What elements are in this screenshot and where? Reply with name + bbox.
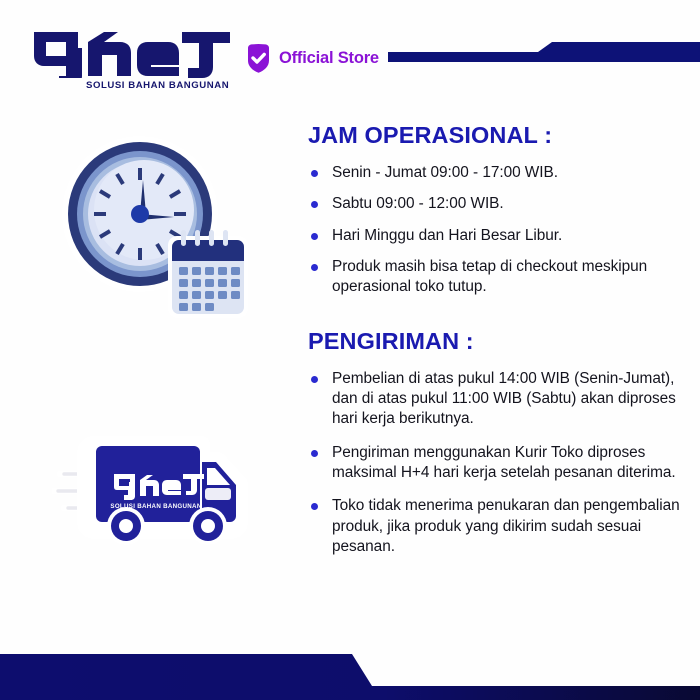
- bullet-dot-icon: [311, 503, 318, 510]
- list-item: Toko tidak menerima penukaran dan pengem…: [308, 496, 684, 557]
- brand-tagline: SOLUSI BAHAN BANGUNAN: [86, 80, 236, 91]
- list-item: Senin - Jumat 09:00 - 17:00 WIB.: [308, 163, 684, 183]
- bullet-dot-icon: [311, 170, 318, 177]
- list-item: Pengiriman menggunakan Kurir Toko dipros…: [308, 443, 684, 484]
- bullet-dot-icon: [311, 233, 318, 240]
- info-banner-page: SOLUSI BAHAN BANGUNAN Official Store: [0, 0, 700, 700]
- official-store-badge: Official Store: [246, 42, 379, 74]
- list-item-text: Pembelian di atas pukul 14:00 WIB (Senin…: [332, 370, 676, 428]
- page-header: SOLUSI BAHAN BANGUNAN Official Store: [0, 0, 700, 108]
- footer-accent-bar-icon: [0, 646, 700, 700]
- list-item-text: Senin - Jumat 09:00 - 17:00 WIB.: [332, 164, 558, 181]
- list-item-text: Hari Minggu dan Hari Besar Libur.: [332, 227, 562, 244]
- info-content: JAM OPERASIONAL : Senin - Jumat 09:00 - …: [308, 122, 684, 570]
- section-pengiriman: PENGIRIMAN : Pembelian di atas pukul 14:…: [308, 328, 684, 558]
- bullet-dot-icon: [311, 264, 318, 271]
- list-item-text: Toko tidak menerima penukaran dan pengem…: [332, 497, 680, 555]
- list-item: Pembelian di atas pukul 14:00 WIB (Senin…: [308, 369, 684, 430]
- section-title-jam-operasional: JAM OPERASIONAL :: [308, 122, 684, 149]
- jam-operasional-list: Senin - Jumat 09:00 - 17:00 WIB. Sabtu 0…: [308, 163, 684, 298]
- list-item-text: Produk masih bisa tetap di checkout mesk…: [332, 258, 647, 295]
- shield-check-icon: [246, 44, 271, 73]
- clock-calendar-illustration: [58, 128, 250, 324]
- delivery-truck-illustration: SOLUSI BAHAN BANGUNAN: [52, 418, 260, 564]
- section-jam-operasional: JAM OPERASIONAL : Senin - Jumat 09:00 - …: [308, 122, 684, 298]
- list-item-text: Sabtu 09:00 - 12:00 WIB.: [332, 195, 504, 212]
- bullet-dot-icon: [311, 201, 318, 208]
- bullet-dot-icon: [311, 450, 318, 457]
- brand-logo: SOLUSI BAHAN BANGUNAN: [30, 26, 235, 96]
- bullet-dot-icon: [311, 376, 318, 383]
- section-title-pengiriman: PENGIRIMAN :: [308, 328, 684, 355]
- gnet-logo-icon: [30, 26, 235, 78]
- header-accent-bar-icon: [388, 40, 700, 66]
- official-store-label: Official Store: [279, 49, 379, 68]
- list-item: Hari Minggu dan Hari Besar Libur.: [308, 226, 684, 246]
- list-item: Produk masih bisa tetap di checkout mesk…: [308, 257, 684, 298]
- pengiriman-list: Pembelian di atas pukul 14:00 WIB (Senin…: [308, 369, 684, 558]
- list-item: Sabtu 09:00 - 12:00 WIB.: [308, 194, 684, 214]
- list-item-text: Pengiriman menggunakan Kurir Toko dipros…: [332, 444, 676, 481]
